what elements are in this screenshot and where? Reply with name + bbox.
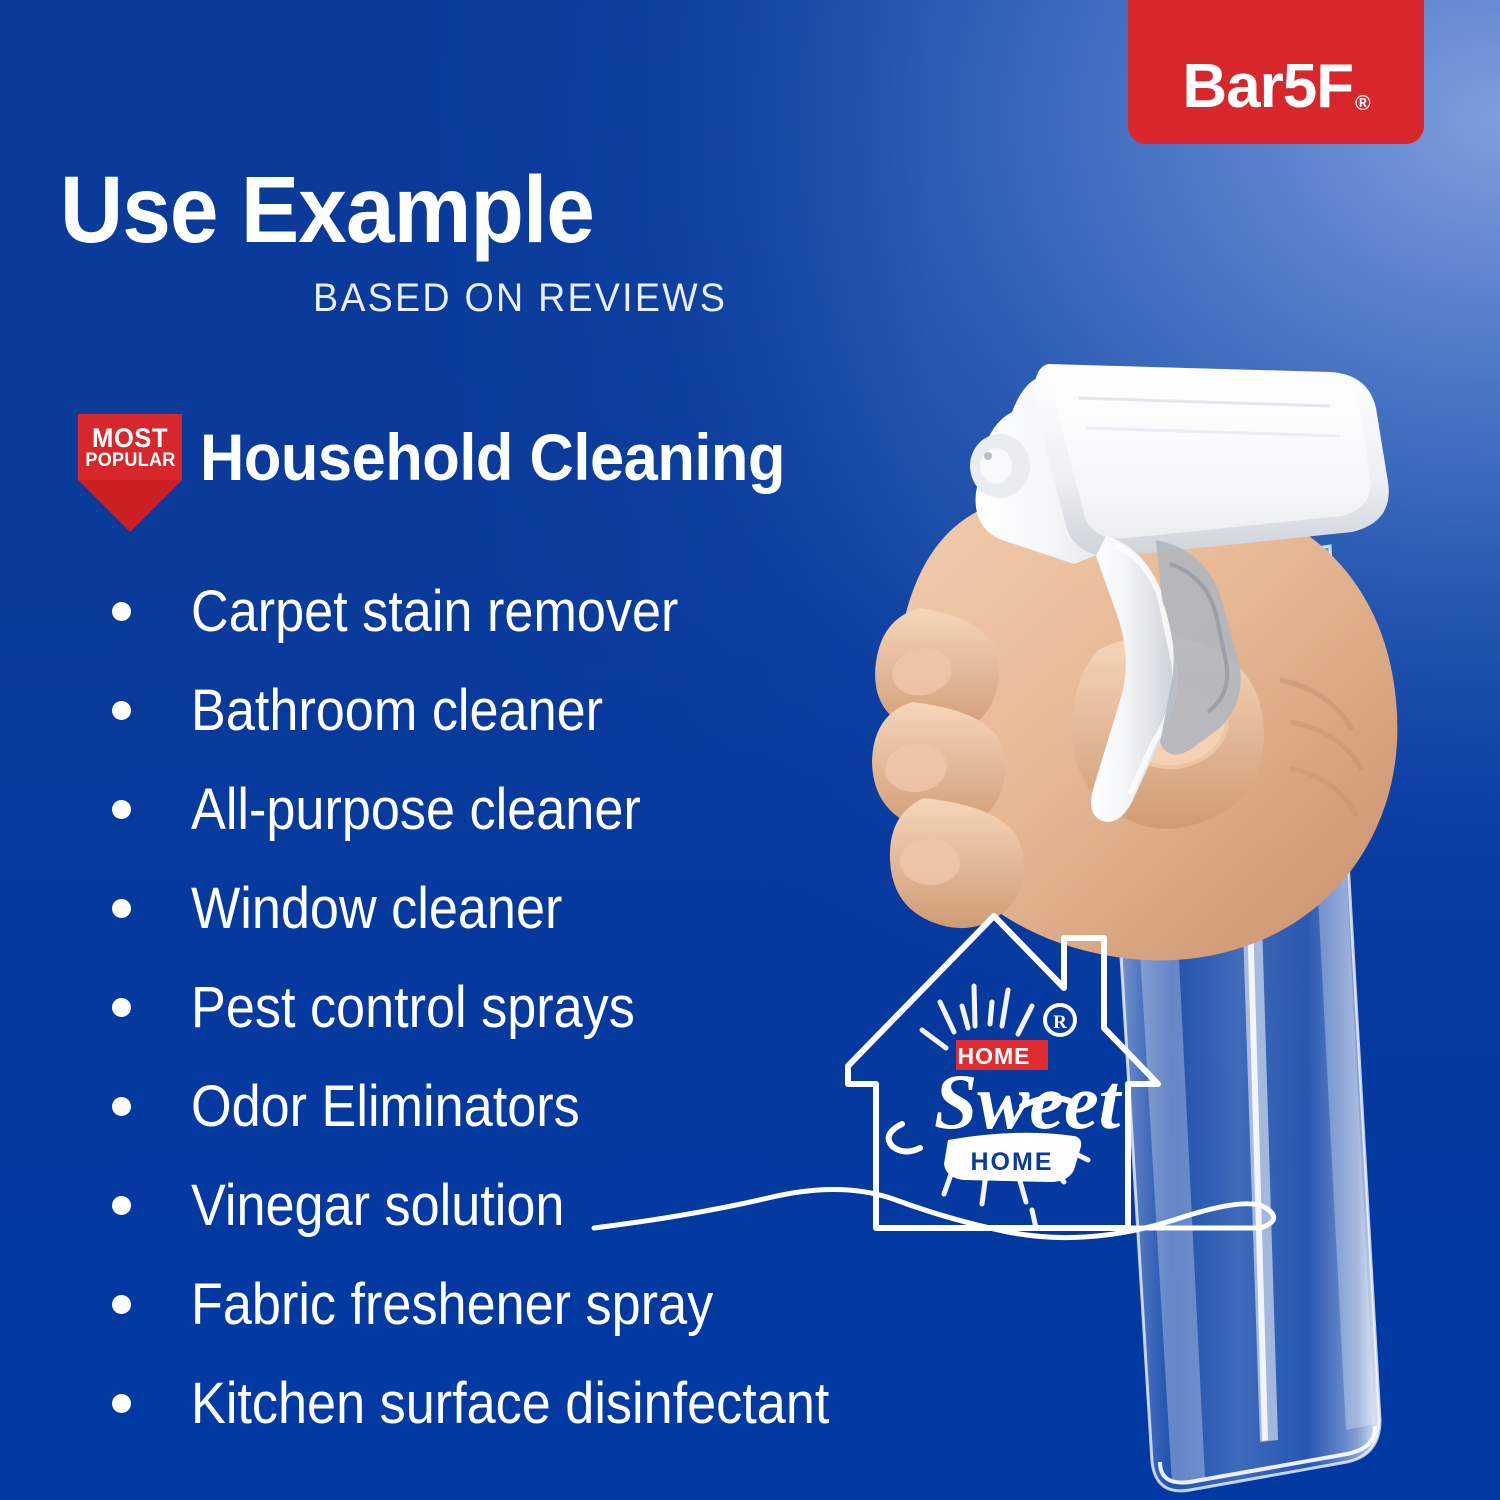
brand-logo: Bar5F ® [1128,0,1424,144]
list-item: Pest control sprays [112,958,1012,1057]
svg-text:R: R [1053,1012,1067,1033]
most-popular-badge-point [78,480,182,532]
list-item: Bathroom cleaner [112,661,1012,760]
brand-name: Bar5F [1182,56,1353,118]
list-item-label: Fabric freshener spray [191,1276,713,1334]
bullet-icon [112,998,131,1017]
bullet-icon [112,1097,131,1116]
category-heading: Household Cleaning [200,424,785,490]
bullet-icon [112,1394,131,1413]
list-item: Window cleaner [112,859,1012,958]
list-item-label: Pest control sprays [191,979,635,1037]
list-item-label: Kitchen surface disinfectant [191,1375,829,1433]
list-item-label: Bathroom cleaner [191,682,603,740]
brand-registered-mark: ® [1355,93,1369,114]
infographic-canvas: R HOME Sweet HOME Bar5F ® [0,0,1500,1500]
list-item: Vinegar solution [112,1156,1012,1255]
list-item: Fabric freshener spray [112,1255,1012,1354]
most-popular-badge: MOST POPULAR [78,414,182,532]
list-item: Kitchen surface disinfectant [112,1354,1012,1453]
bullet-icon [112,800,131,819]
list-item: Carpet stain remover [112,562,1012,661]
page-title: Use Example [60,163,594,258]
list-item-label: Carpet stain remover [191,583,678,641]
list-item: Odor Eliminators [112,1057,1012,1156]
list-item-label: Vinegar solution [191,1177,564,1235]
list-item-label: All-purpose cleaner [191,781,641,839]
bullet-icon [112,899,131,918]
most-popular-badge-body: MOST POPULAR [78,414,182,480]
list-item: All-purpose cleaner [112,760,1012,859]
most-popular-line2: POPULAR [85,451,175,470]
list-item-label: Odor Eliminators [191,1078,580,1136]
brand-logo-text: Bar5F ® [1182,56,1369,118]
bullet-icon [112,602,131,621]
bullet-icon [112,701,131,720]
bullet-icon [112,1295,131,1314]
bullet-icon [112,1196,131,1215]
use-list: Carpet stain remover Bathroom cleaner Al… [112,562,1012,1453]
list-item-label: Window cleaner [191,880,562,938]
registered-mark-icon: R [1045,1005,1075,1035]
page-subtitle: BASED ON REVIEWS [313,278,727,318]
most-popular-line1: MOST [92,426,168,451]
